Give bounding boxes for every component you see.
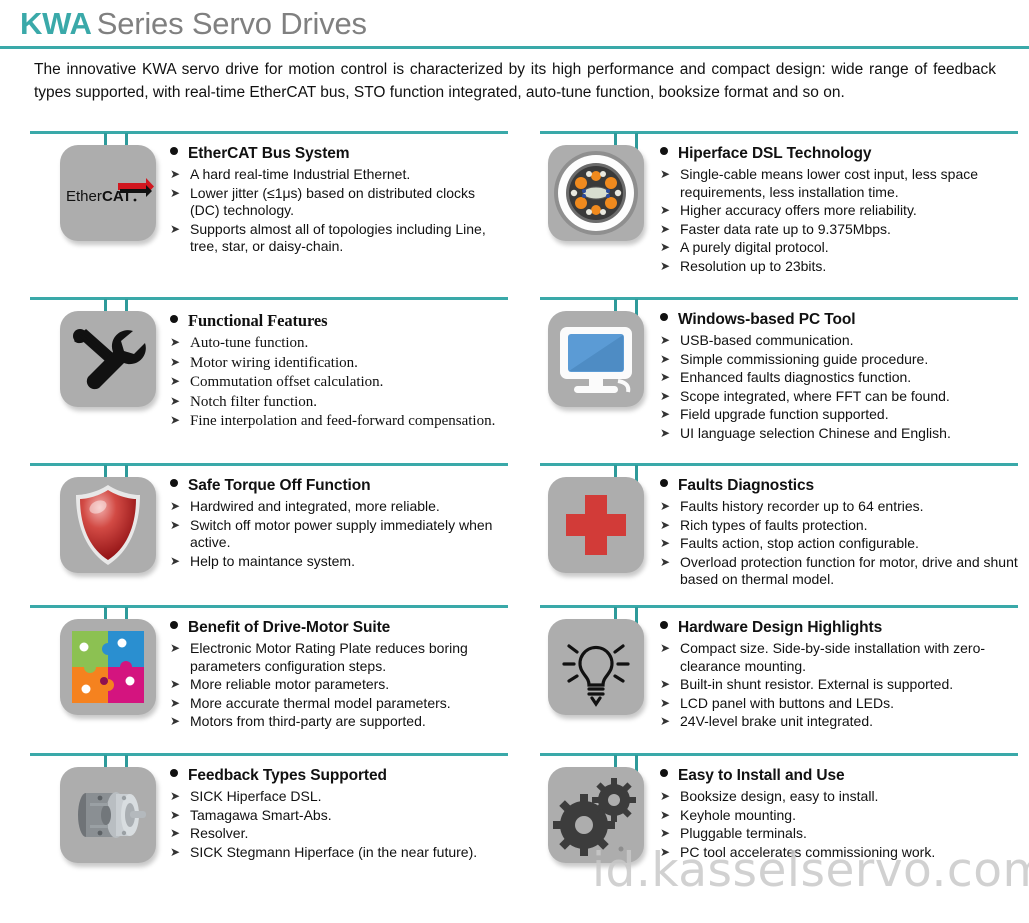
arrow-bullet-icon: ➤ bbox=[660, 425, 680, 443]
bullet-text: Notch filter function. bbox=[190, 393, 508, 412]
arrow-bullet-icon: ➤ bbox=[170, 695, 190, 713]
arrow-bullet-icon: ➤ bbox=[660, 221, 680, 239]
arrow-bullet-icon: ➤ bbox=[170, 334, 190, 352]
bullet-text: Motor wiring identification. bbox=[190, 354, 508, 373]
arrow-bullet-icon: ➤ bbox=[660, 517, 680, 535]
bullet-text: USB-based communication. bbox=[680, 332, 1018, 350]
bullet-text: Faults action, stop action configurable. bbox=[680, 535, 1018, 553]
feature-body: EtherCAT Bus System ➤A hard real-time In… bbox=[170, 145, 508, 257]
arrow-bullet-icon: ➤ bbox=[660, 844, 680, 862]
list-item: ➤SICK Stegmann Hiperface (in the near fu… bbox=[170, 844, 508, 862]
arrow-bullet-icon: ➤ bbox=[660, 166, 680, 184]
bullet-dot-icon bbox=[660, 769, 668, 777]
gears-icon bbox=[548, 767, 644, 863]
arrow-bullet-icon: ➤ bbox=[170, 553, 190, 571]
bullet-text: Electronic Motor Rating Plate reduces bo… bbox=[190, 640, 508, 675]
card-divider bbox=[540, 297, 1018, 300]
bullet-text: Help to maintance system. bbox=[190, 553, 508, 571]
bullet-text: 24V-level brake unit integrated. bbox=[680, 713, 1018, 731]
lightbulb-icon bbox=[548, 619, 644, 715]
list-item: ➤Enhanced faults diagnostics function. bbox=[660, 369, 1018, 387]
arrow-bullet-icon: ➤ bbox=[660, 676, 680, 694]
arrow-bullet-icon: ➤ bbox=[170, 788, 190, 806]
ethercat-logo-icon: Ether CAT bbox=[60, 145, 156, 241]
arrow-bullet-icon: ➤ bbox=[660, 788, 680, 806]
feature-body: Safe Torque Off Function ➤Hardwired and … bbox=[170, 477, 508, 571]
list-item: ➤Electronic Motor Rating Plate reduces b… bbox=[170, 640, 508, 675]
feature-title: Benefit of Drive-Motor Suite bbox=[188, 619, 390, 637]
card-divider bbox=[30, 753, 508, 756]
arrow-bullet-icon: ➤ bbox=[660, 406, 680, 424]
arrow-bullet-icon: ➤ bbox=[660, 554, 680, 572]
card-divider bbox=[540, 131, 1018, 134]
bullet-text: Tamagawa Smart-Abs. bbox=[190, 807, 508, 825]
arrow-bullet-icon: ➤ bbox=[660, 640, 680, 658]
list-item: ➤Resolver. bbox=[170, 825, 508, 843]
arrow-bullet-icon: ➤ bbox=[660, 498, 680, 516]
arrow-bullet-icon: ➤ bbox=[170, 166, 190, 184]
list-item: ➤USB-based communication. bbox=[660, 332, 1018, 350]
intro-paragraph: The innovative KWA servo drive for motio… bbox=[34, 58, 996, 104]
feature-body: Benefit of Drive-Motor Suite ➤Electronic… bbox=[170, 619, 508, 732]
list-item: ➤Faults action, stop action configurable… bbox=[660, 535, 1018, 553]
feature-body: Windows-based PC Tool ➤USB-based communi… bbox=[660, 311, 1018, 443]
feature-heading: Easy to Install and Use bbox=[660, 767, 1018, 785]
bullet-dot-icon bbox=[170, 315, 178, 323]
list-item: ➤Auto-tune function. bbox=[170, 334, 508, 353]
bullet-text: Higher accuracy offers more reliability. bbox=[680, 202, 1018, 220]
feature-bullet-list: ➤Compact size. Side-by-side installation… bbox=[660, 640, 1018, 731]
feature-body: Faults Diagnostics ➤Faults history recor… bbox=[660, 477, 1018, 590]
list-item: ➤Keyhole mounting. bbox=[660, 807, 1018, 825]
arrow-bullet-icon: ➤ bbox=[660, 713, 680, 731]
list-item: ➤Booksize design, easy to install. bbox=[660, 788, 1018, 806]
list-item: ➤A purely digital protocol. bbox=[660, 239, 1018, 257]
arrow-bullet-icon: ➤ bbox=[660, 332, 680, 350]
feature-bullet-list: ➤Faults history recorder up to 64 entrie… bbox=[660, 498, 1018, 589]
bullet-text: Commutation offset calculation. bbox=[190, 373, 508, 392]
feature-heading: Faults Diagnostics bbox=[660, 477, 1018, 495]
list-item: ➤24V-level brake unit integrated. bbox=[660, 713, 1018, 731]
feature-heading: Functional Features bbox=[170, 311, 508, 331]
feature-bullet-list: ➤Electronic Motor Rating Plate reduces b… bbox=[170, 640, 508, 731]
bullet-text: Faults history recorder up to 64 entries… bbox=[680, 498, 1018, 516]
list-item: ➤Compact size. Side-by-side installation… bbox=[660, 640, 1018, 675]
list-item: ➤SICK Hiperface DSL. bbox=[170, 788, 508, 806]
feature-body: Hiperface DSL Technology ➤Single-cable m… bbox=[660, 145, 1018, 276]
feature-title: Hiperface DSL Technology bbox=[678, 145, 871, 163]
feature-row: Ether CAT EtherCAT Bus System ➤A hard re… bbox=[0, 131, 1029, 301]
svg-text:Ether: Ether bbox=[66, 188, 102, 205]
arrow-bullet-icon: ➤ bbox=[170, 412, 190, 430]
arrow-bullet-icon: ➤ bbox=[170, 844, 190, 862]
bullet-text: Rich types of faults protection. bbox=[680, 517, 1018, 535]
arrow-bullet-icon: ➤ bbox=[660, 807, 680, 825]
arrow-bullet-icon: ➤ bbox=[660, 388, 680, 406]
list-item: ➤Motor wiring identification. bbox=[170, 354, 508, 373]
card-divider bbox=[30, 463, 508, 466]
bullet-text: Supports almost all of topologies includ… bbox=[190, 221, 508, 256]
feature-title: Faults Diagnostics bbox=[678, 477, 814, 495]
arrow-bullet-icon: ➤ bbox=[170, 640, 190, 658]
series-name: Series Servo Drives bbox=[97, 6, 367, 41]
arrow-bullet-icon: ➤ bbox=[170, 498, 190, 516]
bullet-dot-icon bbox=[170, 479, 178, 487]
arrow-bullet-icon: ➤ bbox=[170, 825, 190, 843]
bullet-text: A purely digital protocol. bbox=[680, 239, 1018, 257]
list-item: ➤Help to maintance system. bbox=[170, 553, 508, 571]
header-divider bbox=[0, 46, 1029, 49]
bullet-text: Enhanced faults diagnostics function. bbox=[680, 369, 1018, 387]
feature-title: Easy to Install and Use bbox=[678, 767, 845, 785]
arrow-bullet-icon: ➤ bbox=[170, 393, 190, 411]
bullet-text: Switch off motor power supply immediatel… bbox=[190, 517, 508, 552]
list-item: ➤Single-cable means lower cost input, le… bbox=[660, 166, 1018, 201]
bullet-dot-icon bbox=[660, 479, 668, 487]
list-item: ➤Notch filter function. bbox=[170, 393, 508, 412]
feature-bullet-list: ➤Auto-tune function.➤Motor wiring identi… bbox=[170, 334, 508, 431]
feature-heading: EtherCAT Bus System bbox=[170, 145, 508, 163]
feature-title: Windows-based PC Tool bbox=[678, 311, 855, 329]
bullet-text: More accurate thermal model parameters. bbox=[190, 695, 508, 713]
list-item: ➤Pluggable terminals. bbox=[660, 825, 1018, 843]
bullet-dot-icon bbox=[660, 621, 668, 629]
list-item: ➤Motors from third-party are supported. bbox=[170, 713, 508, 731]
feature-bullet-list: ➤A hard real-time Industrial Ethernet.➤L… bbox=[170, 166, 508, 256]
bullet-text: Booksize design, easy to install. bbox=[680, 788, 1018, 806]
list-item: ➤Hardwired and integrated, more reliable… bbox=[170, 498, 508, 516]
card-divider bbox=[30, 297, 508, 300]
bullet-text: Resolver. bbox=[190, 825, 508, 843]
list-item: ➤Fine interpolation and feed-forward com… bbox=[170, 412, 508, 431]
list-item: ➤Rich types of faults protection. bbox=[660, 517, 1018, 535]
list-item: ➤LCD panel with buttons and LEDs. bbox=[660, 695, 1018, 713]
feature-bullet-list: ➤SICK Hiperface DSL.➤Tamagawa Smart-Abs.… bbox=[170, 788, 508, 861]
feature-heading: Windows-based PC Tool bbox=[660, 311, 1018, 329]
bullet-dot-icon bbox=[660, 313, 668, 321]
card-divider bbox=[30, 605, 508, 608]
list-item: ➤Simple commissioning guide procedure. bbox=[660, 351, 1018, 369]
feature-title: Safe Torque Off Function bbox=[188, 477, 370, 495]
bullet-text: Auto-tune function. bbox=[190, 334, 508, 353]
list-item: ➤More accurate thermal model parameters. bbox=[170, 695, 508, 713]
feature-heading: Hardware Design Highlights bbox=[660, 619, 1018, 637]
arrow-bullet-icon: ➤ bbox=[660, 825, 680, 843]
card-divider bbox=[30, 131, 508, 134]
page-title: KWASeries Servo Drives bbox=[20, 6, 367, 42]
feature-heading: Feedback Types Supported bbox=[170, 767, 508, 785]
bullet-text: Faster data rate up to 9.375Mbps. bbox=[680, 221, 1018, 239]
bullet-text: Built-in shunt resistor. External is sup… bbox=[680, 676, 1018, 694]
bullet-text: UI language selection Chinese and Englis… bbox=[680, 425, 1018, 443]
bullet-text: Simple commissioning guide procedure. bbox=[680, 351, 1018, 369]
list-item: ➤Higher accuracy offers more reliability… bbox=[660, 202, 1018, 220]
arrow-bullet-icon: ➤ bbox=[170, 354, 190, 372]
shield-icon bbox=[60, 477, 156, 573]
arrow-bullet-icon: ➤ bbox=[170, 373, 190, 391]
card-divider bbox=[540, 753, 1018, 756]
bullet-text: Overload protection function for motor, … bbox=[680, 554, 1018, 589]
feature-body: Feedback Types Supported ➤SICK Hiperface… bbox=[170, 767, 508, 862]
feature-heading: Benefit of Drive-Motor Suite bbox=[170, 619, 508, 637]
arrow-bullet-icon: ➤ bbox=[170, 517, 190, 535]
feature-title: Hardware Design Highlights bbox=[678, 619, 882, 637]
list-item: ➤Switch off motor power supply immediate… bbox=[170, 517, 508, 552]
arrow-bullet-icon: ➤ bbox=[170, 185, 190, 203]
bullet-text: A hard real-time Industrial Ethernet. bbox=[190, 166, 508, 184]
encoder-photo-icon bbox=[60, 767, 156, 863]
arrow-bullet-icon: ➤ bbox=[660, 351, 680, 369]
wrench-screwdriver-icon bbox=[60, 311, 156, 407]
cable-cross-section-icon bbox=[548, 145, 644, 241]
puzzle-pieces-icon bbox=[60, 619, 156, 715]
arrow-bullet-icon: ➤ bbox=[660, 535, 680, 553]
arrow-bullet-icon: ➤ bbox=[660, 258, 680, 276]
bullet-text: Lower jitter (≤1μs) based on distributed… bbox=[190, 185, 508, 220]
brand-name: KWA bbox=[20, 6, 92, 41]
bullet-text: More reliable motor parameters. bbox=[190, 676, 508, 694]
feature-heading: Safe Torque Off Function bbox=[170, 477, 508, 495]
bullet-text: PC tool accelerates commissioning work. bbox=[680, 844, 1018, 862]
bullet-text: Compact size. Side-by-side installation … bbox=[680, 640, 1018, 675]
bullet-dot-icon bbox=[170, 769, 178, 777]
arrow-bullet-icon: ➤ bbox=[170, 713, 190, 731]
arrow-bullet-icon: ➤ bbox=[170, 807, 190, 825]
arrow-bullet-icon: ➤ bbox=[170, 221, 190, 239]
list-item: ➤Overload protection function for motor,… bbox=[660, 554, 1018, 589]
bullet-text: Field upgrade function supported. bbox=[680, 406, 1018, 424]
feature-body: Hardware Design Highlights ➤Compact size… bbox=[660, 619, 1018, 732]
arrow-bullet-icon: ➤ bbox=[170, 676, 190, 694]
page-header: KWASeries Servo Drives bbox=[0, 0, 1029, 50]
list-item: ➤A hard real-time Industrial Ethernet. bbox=[170, 166, 508, 184]
feature-bullet-list: ➤Single-cable means lower cost input, le… bbox=[660, 166, 1018, 275]
card-divider bbox=[540, 605, 1018, 608]
bullet-text: SICK Stegmann Hiperface (in the near fut… bbox=[190, 844, 508, 862]
list-item: ➤Built-in shunt resistor. External is su… bbox=[660, 676, 1018, 694]
list-item: ➤PC tool accelerates commissioning work. bbox=[660, 844, 1018, 862]
list-item: ➤More reliable motor parameters. bbox=[170, 676, 508, 694]
arrow-bullet-icon: ➤ bbox=[660, 239, 680, 257]
list-item: ➤Commutation offset calculation. bbox=[170, 373, 508, 392]
list-item: ➤Lower jitter (≤1μs) based on distribute… bbox=[170, 185, 508, 220]
list-item: ➤Tamagawa Smart-Abs. bbox=[170, 807, 508, 825]
bullet-text: LCD panel with buttons and LEDs. bbox=[680, 695, 1018, 713]
feature-title: EtherCAT Bus System bbox=[188, 145, 349, 163]
arrow-bullet-icon: ➤ bbox=[660, 695, 680, 713]
feature-bullet-list: ➤Hardwired and integrated, more reliable… bbox=[170, 498, 508, 570]
bullet-text: Scope integrated, where FFT can be found… bbox=[680, 388, 1018, 406]
arrow-bullet-icon: ➤ bbox=[660, 202, 680, 220]
bullet-dot-icon bbox=[660, 147, 668, 155]
feature-title: Feedback Types Supported bbox=[188, 767, 387, 785]
list-item: ➤Faults history recorder up to 64 entrie… bbox=[660, 498, 1018, 516]
feature-title: Functional Features bbox=[188, 311, 327, 331]
arrow-bullet-icon: ➤ bbox=[660, 369, 680, 387]
feature-bullet-list: ➤Booksize design, easy to install.➤Keyho… bbox=[660, 788, 1018, 861]
bullet-text: Hardwired and integrated, more reliable. bbox=[190, 498, 508, 516]
red-cross-icon bbox=[548, 477, 644, 573]
feature-row: Benefit of Drive-Motor Suite ➤Electronic… bbox=[0, 605, 1029, 775]
list-item: ➤UI language selection Chinese and Engli… bbox=[660, 425, 1018, 443]
bullet-text: Motors from third-party are supported. bbox=[190, 713, 508, 731]
list-item: ➤Resolution up to 23bits. bbox=[660, 258, 1018, 276]
list-item: ➤Scope integrated, where FFT can be foun… bbox=[660, 388, 1018, 406]
list-item: ➤Supports almost all of topologies inclu… bbox=[170, 221, 508, 256]
bullet-text: Pluggable terminals. bbox=[680, 825, 1018, 843]
feature-body: Easy to Install and Use ➤Booksize design… bbox=[660, 767, 1018, 862]
bullet-dot-icon bbox=[170, 147, 178, 155]
feature-heading: Hiperface DSL Technology bbox=[660, 145, 1018, 163]
monitor-icon bbox=[548, 311, 644, 407]
bullet-text: Keyhole mounting. bbox=[680, 807, 1018, 825]
feature-bullet-list: ➤USB-based communication.➤Simple commiss… bbox=[660, 332, 1018, 442]
feature-row: Feedback Types Supported ➤SICK Hiperface… bbox=[0, 753, 1029, 923]
feature-body: Functional Features ➤Auto-tune function.… bbox=[170, 311, 508, 432]
feature-row: Functional Features ➤Auto-tune function.… bbox=[0, 297, 1029, 467]
bullet-text: Single-cable means lower cost input, les… bbox=[680, 166, 1018, 201]
card-divider bbox=[540, 463, 1018, 466]
bullet-dot-icon bbox=[170, 621, 178, 629]
bullet-text: SICK Hiperface DSL. bbox=[190, 788, 508, 806]
bullet-text: Fine interpolation and feed-forward comp… bbox=[190, 412, 508, 431]
list-item: ➤Faster data rate up to 9.375Mbps. bbox=[660, 221, 1018, 239]
bullet-text: Resolution up to 23bits. bbox=[680, 258, 1018, 276]
list-item: ➤Field upgrade function supported. bbox=[660, 406, 1018, 424]
